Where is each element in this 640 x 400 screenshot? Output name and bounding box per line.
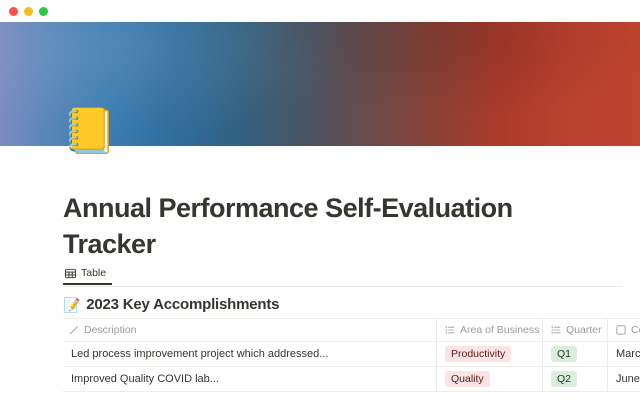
cell-completion-date[interactable]: March 7 (608, 342, 640, 366)
maximize-window-button[interactable] (39, 7, 48, 16)
column-header-description[interactable]: Description (63, 319, 437, 341)
column-header-completion[interactable]: Com (608, 319, 640, 341)
column-header-label: Quarter (566, 324, 602, 336)
database-title-text: 2023 Key Accomplishments (86, 296, 279, 313)
tab-label: Table (81, 267, 106, 279)
window-titlebar (0, 0, 640, 22)
cell-description[interactable]: Led process improvement project which ad… (63, 342, 437, 366)
traffic-light-group (9, 7, 48, 16)
database-title[interactable]: 📝 2023 Key Accomplishments (63, 296, 279, 313)
select-icon (445, 325, 455, 335)
column-header-label: Area of Business (460, 324, 539, 336)
cell-completion-date[interactable]: June 2 (608, 367, 640, 391)
status-badge: Q2 (551, 371, 577, 387)
column-header-label: Description (84, 324, 137, 336)
page-emoji-icon[interactable]: 📒 (62, 106, 114, 158)
table-row[interactable]: Led process improvement project which ad… (63, 342, 640, 367)
page-content: Annual Performance Self-Evaluation Track… (0, 146, 640, 400)
table-row[interactable]: Improved Quality COVID lab... Quality Q2… (63, 367, 640, 392)
table-icon (65, 268, 76, 279)
cell-area-of-business[interactable]: Quality (437, 367, 543, 391)
column-header-quarter[interactable]: Quarter (543, 319, 608, 341)
close-window-button[interactable] (9, 7, 18, 16)
database-view-tabbar: Table (63, 263, 623, 287)
notion-page-window: 📒 Annual Performance Self-Evaluation Tra… (0, 0, 640, 400)
table-header-row: Description Area of Business (63, 318, 640, 342)
cell-area-of-business[interactable]: Productivity (437, 342, 543, 366)
column-header-area-of-business[interactable]: Area of Business (437, 319, 543, 341)
status-badge: Q1 (551, 346, 577, 362)
status-badge: Quality (445, 371, 490, 387)
select-icon (551, 325, 561, 335)
column-header-label: Com (631, 324, 640, 336)
text-icon (69, 325, 79, 335)
memo-icon: 📝 (63, 298, 80, 312)
cell-quarter[interactable]: Q1 (543, 342, 608, 366)
database-table: Description Area of Business (63, 318, 640, 392)
minimize-window-button[interactable] (24, 7, 33, 16)
cell-description[interactable]: Improved Quality COVID lab... (63, 367, 437, 391)
tab-table[interactable]: Table (63, 263, 112, 285)
page-title[interactable]: Annual Performance Self-Evaluation Track… (63, 190, 533, 262)
checkbox-icon (616, 325, 626, 335)
status-badge: Productivity (445, 346, 511, 362)
cell-quarter[interactable]: Q2 (543, 367, 608, 391)
